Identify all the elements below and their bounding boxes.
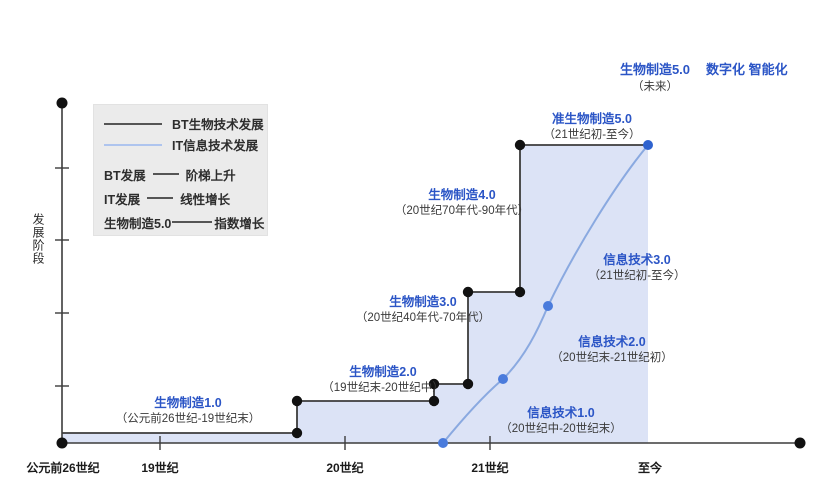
annotation-bt-1-sub: （公元前26世纪-19世纪末）	[98, 412, 278, 426]
x-axis-origin-dot	[57, 438, 68, 449]
annotation-it-1: 信息技术1.0 （20世纪中-20世纪末）	[478, 406, 644, 436]
future-stage-note: 生物制造5.0 （未来）	[605, 59, 705, 94]
annotation-bt-1: 生物制造1.0 （公元前26世纪-19世纪末）	[98, 396, 278, 426]
annotation-bt-4-sub: （20世纪70年代-90年代）	[372, 204, 552, 218]
annotation-bt-5: 准生物制造5.0 （21世纪初-至今）	[527, 112, 657, 142]
x-tick-label-0: 公元前26世纪	[12, 459, 114, 476]
legend-note-bio5-key: 生物制造5.0	[104, 213, 171, 232]
bt-node-dot	[515, 140, 525, 150]
legend-entry-bt: BT生物技术发展	[104, 113, 255, 134]
annotation-bt-4: 生物制造4.0 （20世纪70年代-90年代）	[372, 188, 552, 218]
annotation-bt-3: 生物制造3.0 （20世纪40年代-70年代）	[338, 295, 508, 325]
legend-note-dash	[153, 173, 179, 175]
annotation-bt-1-title: 生物制造1.0	[98, 396, 278, 412]
annotation-it-2-title: 信息技术2.0	[527, 335, 697, 351]
legend-note-bt-value: 阶梯上升	[186, 165, 236, 184]
annotation-bt-2: 生物制造2.0 （19世纪末-20世纪中）	[303, 365, 463, 395]
legend-note-it: IT发展 线性增长	[104, 186, 255, 210]
legend-note-it-value: 线性增长	[180, 189, 230, 208]
legend-note-bio5-value: 指数增长	[214, 213, 264, 232]
x-tick-label-3: 21世纪	[452, 459, 528, 476]
annotation-bt-3-sub: （20世纪40年代-70年代）	[338, 311, 508, 325]
x-tick-label-4: 至今	[612, 459, 688, 476]
it-node-dot	[543, 301, 553, 311]
annotation-bt-4-title: 生物制造4.0	[372, 188, 552, 204]
future-keywords-note: 数字化 智能化	[706, 59, 788, 78]
x-tick-label-1: 19世纪	[122, 459, 198, 476]
annotation-it-3: 信息技术3.0 （21世纪初-至今）	[561, 253, 713, 283]
y-axis-title: 发展阶段	[30, 213, 47, 265]
annotation-it-3-title: 信息技术3.0	[561, 253, 713, 269]
bt-node-dot	[292, 428, 302, 438]
it-node-dot	[438, 438, 448, 448]
x-tick-label-2: 20世纪	[307, 459, 383, 476]
legend-label-it: IT信息技术发展	[172, 135, 258, 154]
legend-spacer	[104, 155, 255, 162]
bt-node-dot	[463, 379, 473, 389]
legend-note-bt: BT发展 阶梯上升	[104, 162, 255, 186]
annotation-bt-5-sub: （21世纪初-至今）	[527, 128, 657, 142]
legend-line-swatch-it	[104, 144, 162, 146]
legend-label-bt: BT生物技术发展	[172, 114, 264, 133]
legend-note-it-key: IT发展	[104, 189, 140, 208]
legend-entry-it: IT信息技术发展	[104, 134, 255, 155]
annotation-bt-2-title: 生物制造2.0	[303, 365, 463, 381]
legend-note-dash	[147, 197, 173, 199]
y-axis-endpoint	[57, 98, 68, 109]
annotation-bt-2-sub: （19世纪末-20世纪中）	[303, 381, 463, 395]
annotation-bt-3-title: 生物制造3.0	[338, 295, 508, 311]
annotation-it-1-title: 信息技术1.0	[478, 406, 644, 422]
chart-figure: 发展阶段 生物制造5.0 （未来） 数字化 智能化 BT生物技术发展 IT信息技…	[0, 0, 831, 498]
legend-note-dash	[172, 221, 212, 223]
it-node-dot	[498, 374, 508, 384]
future-stage-title: 生物制造5.0	[605, 59, 705, 78]
annotation-it-2: 信息技术2.0 （20世纪末-21世纪初）	[527, 335, 697, 365]
annotation-bt-5-title: 准生物制造5.0	[527, 112, 657, 128]
legend-note-bio5: 生物制造5.0 指数增长	[104, 210, 255, 234]
bt-node-dot	[429, 396, 439, 406]
bt-node-dot	[292, 396, 302, 406]
chart-legend: BT生物技术发展 IT信息技术发展 BT发展 阶梯上升 IT发展 线性增长 生物…	[93, 104, 268, 236]
x-axis-endpoint	[795, 438, 806, 449]
legend-note-bt-key: BT发展	[104, 165, 146, 184]
annotation-it-1-sub: （20世纪中-20世纪末）	[478, 422, 644, 436]
annotation-it-3-sub: （21世纪初-至今）	[561, 269, 713, 283]
legend-line-swatch-bt	[104, 123, 162, 125]
bt-node-dot	[515, 287, 525, 297]
future-stage-sub: （未来）	[605, 78, 705, 94]
annotation-it-2-sub: （20世纪末-21世纪初）	[527, 351, 697, 365]
